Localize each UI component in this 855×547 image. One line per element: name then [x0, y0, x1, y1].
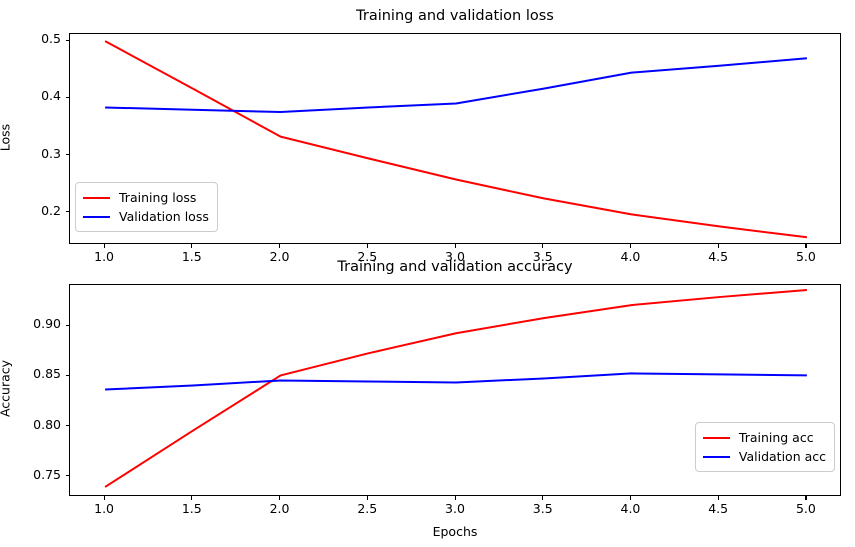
x-tick-mark — [630, 244, 631, 248]
x-tick-mark — [455, 244, 456, 248]
x-tick-mark — [279, 244, 280, 248]
x-tick-label: 1.5 — [167, 501, 217, 516]
loss-chart-title: Training and validation loss — [69, 8, 841, 24]
x-tick-label: 4.5 — [693, 501, 743, 516]
y-tick-mark — [66, 97, 70, 98]
y-tick-mark — [66, 211, 70, 212]
x-tick-mark — [805, 244, 806, 248]
y-tick-label: 0.3 — [7, 146, 61, 161]
x-tick-mark — [542, 496, 543, 500]
y-tick-label: 0.90 — [7, 316, 61, 331]
legend-item-training-loss: Training loss — [83, 188, 209, 207]
x-tick-label: 4.0 — [605, 501, 655, 516]
x-tick-mark — [542, 244, 543, 248]
x-tick-mark — [367, 496, 368, 500]
accuracy-chart-title: Training and validation accuracy — [69, 259, 841, 275]
x-tick-label: 1.0 — [79, 501, 129, 516]
x-tick-mark — [718, 496, 719, 500]
loss-chart-legend[interactable]: Training loss Validation loss — [75, 182, 218, 232]
x-tick-mark — [455, 496, 456, 500]
y-tick-label: 0.4 — [7, 88, 61, 103]
y-tick-label: 0.85 — [7, 366, 61, 381]
legend-label-validation-acc: Validation acc — [739, 447, 826, 466]
x-tick-mark — [191, 496, 192, 500]
y-tick-label: 0.5 — [7, 31, 61, 46]
legend-swatch-validation-acc — [703, 456, 730, 458]
legend-item-training-acc: Training acc — [703, 428, 826, 447]
x-tick-mark — [630, 496, 631, 500]
y-tick-mark — [66, 475, 70, 476]
x-tick-mark — [718, 244, 719, 248]
legend-label-training-acc: Training acc — [739, 428, 814, 447]
x-tick-mark — [104, 496, 105, 500]
x-tick-mark — [367, 244, 368, 248]
y-tick-mark — [66, 375, 70, 376]
accuracy-chart-x-axis-label: Epochs — [69, 524, 841, 539]
accuracy-chart-legend[interactable]: Training acc Validation acc — [695, 422, 835, 472]
y-tick-label: 0.80 — [7, 417, 61, 432]
x-tick-label: 2.0 — [255, 501, 305, 516]
x-tick-label: 3.0 — [430, 501, 480, 516]
legend-label-validation-loss: Validation loss — [119, 207, 209, 226]
y-tick-mark — [66, 325, 70, 326]
y-tick-mark — [66, 40, 70, 41]
legend-item-validation-acc: Validation acc — [703, 447, 826, 466]
x-tick-label: 3.5 — [518, 501, 568, 516]
y-tick-mark — [66, 154, 70, 155]
legend-swatch-validation-loss — [83, 216, 110, 218]
legend-swatch-training-loss — [83, 197, 110, 199]
y-tick-mark — [66, 425, 70, 426]
matplotlib-figure: Training and validation loss Loss 1.01.5… — [0, 0, 855, 547]
y-tick-label: 0.75 — [7, 467, 61, 482]
x-tick-mark — [191, 244, 192, 248]
x-tick-label: 2.5 — [342, 501, 392, 516]
legend-item-validation-loss: Validation loss — [83, 207, 209, 226]
legend-label-training-loss: Training loss — [119, 188, 196, 207]
x-tick-mark — [279, 496, 280, 500]
y-tick-label: 0.2 — [7, 203, 61, 218]
x-tick-mark — [805, 496, 806, 500]
x-tick-mark — [104, 244, 105, 248]
legend-swatch-training-acc — [703, 437, 730, 439]
x-tick-label: 5.0 — [781, 501, 831, 516]
